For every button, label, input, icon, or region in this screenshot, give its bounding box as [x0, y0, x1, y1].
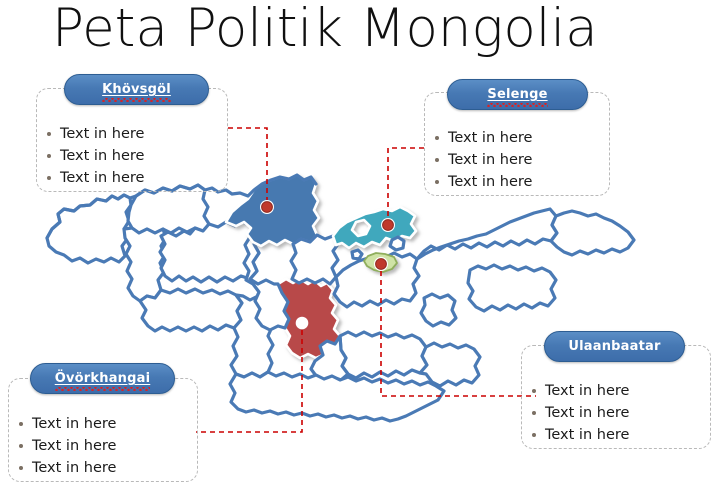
bullet-icon — [532, 389, 536, 393]
pill-label-khovsgol[interactable]: Khövsgöl — [64, 74, 209, 105]
list-item-label: Text in here — [32, 417, 116, 432]
list-item-label: Text in here — [448, 153, 532, 168]
callout-selenge-body: Text in here Text in here Text in here — [435, 127, 603, 193]
pill-label-khovsgol-text: Khövsgöl — [102, 82, 171, 97]
bullet-icon — [47, 154, 51, 158]
list-item-label: Text in here — [32, 439, 116, 454]
callout-khovsgol-body: Text in here Text in here Text in here — [47, 123, 221, 189]
list-item: Text in here — [19, 435, 191, 457]
list-item-label: Text in here — [32, 461, 116, 476]
bullet-icon — [435, 158, 439, 162]
spellcheck-underline-icon — [102, 98, 171, 102]
list-item: Text in here — [435, 171, 603, 193]
list-item: Text in here — [19, 413, 191, 435]
list-item-label: Text in here — [545, 406, 629, 421]
pill-label-ulaanbaatar-text: Ulaanbaatar — [568, 339, 660, 354]
pill-label-selenge[interactable]: Selenge — [447, 79, 588, 110]
callout-ovorkhangai-body: Text in here Text in here Text in here — [19, 413, 191, 479]
list-item: Text in here — [435, 149, 603, 171]
pill-label-ovorkhangai[interactable]: Övörkhangai — [30, 363, 175, 394]
list-item-label: Text in here — [448, 131, 532, 146]
list-item: Text in here — [19, 457, 191, 479]
bullet-icon — [19, 422, 23, 426]
callout-ulaanbaatar-body: Text in here Text in here Text in here — [532, 380, 704, 446]
pill-label-ovorkhangai-text: Övörkhangai — [55, 371, 151, 386]
spellcheck-underline-icon — [55, 387, 151, 391]
slide-canvas: Peta Politik Mongolia — [0, 0, 717, 484]
list-item: Text in here — [47, 167, 221, 189]
bullet-icon — [19, 466, 23, 470]
list-item-label: Text in here — [60, 171, 144, 186]
list-item: Text in here — [532, 380, 704, 402]
list-item: Text in here — [47, 145, 221, 167]
bullet-icon — [435, 136, 439, 140]
bullet-icon — [19, 444, 23, 448]
pill-label-ulaanbaatar[interactable]: Ulaanbaatar — [544, 331, 685, 362]
list-item-label: Text in here — [60, 149, 144, 164]
list-item: Text in here — [532, 402, 704, 424]
list-item-label: Text in here — [448, 175, 532, 190]
list-item: Text in here — [47, 123, 221, 145]
bullet-icon — [532, 411, 536, 415]
bullet-icon — [47, 176, 51, 180]
list-item-label: Text in here — [545, 384, 629, 399]
list-item-label: Text in here — [60, 127, 144, 142]
pill-label-selenge-text: Selenge — [487, 87, 547, 102]
list-item-label: Text in here — [545, 428, 629, 443]
list-item: Text in here — [532, 424, 704, 446]
bullet-icon — [532, 433, 536, 437]
bullet-icon — [435, 180, 439, 184]
list-item: Text in here — [435, 127, 603, 149]
spellcheck-underline-icon — [487, 103, 547, 107]
bullet-icon — [47, 132, 51, 136]
